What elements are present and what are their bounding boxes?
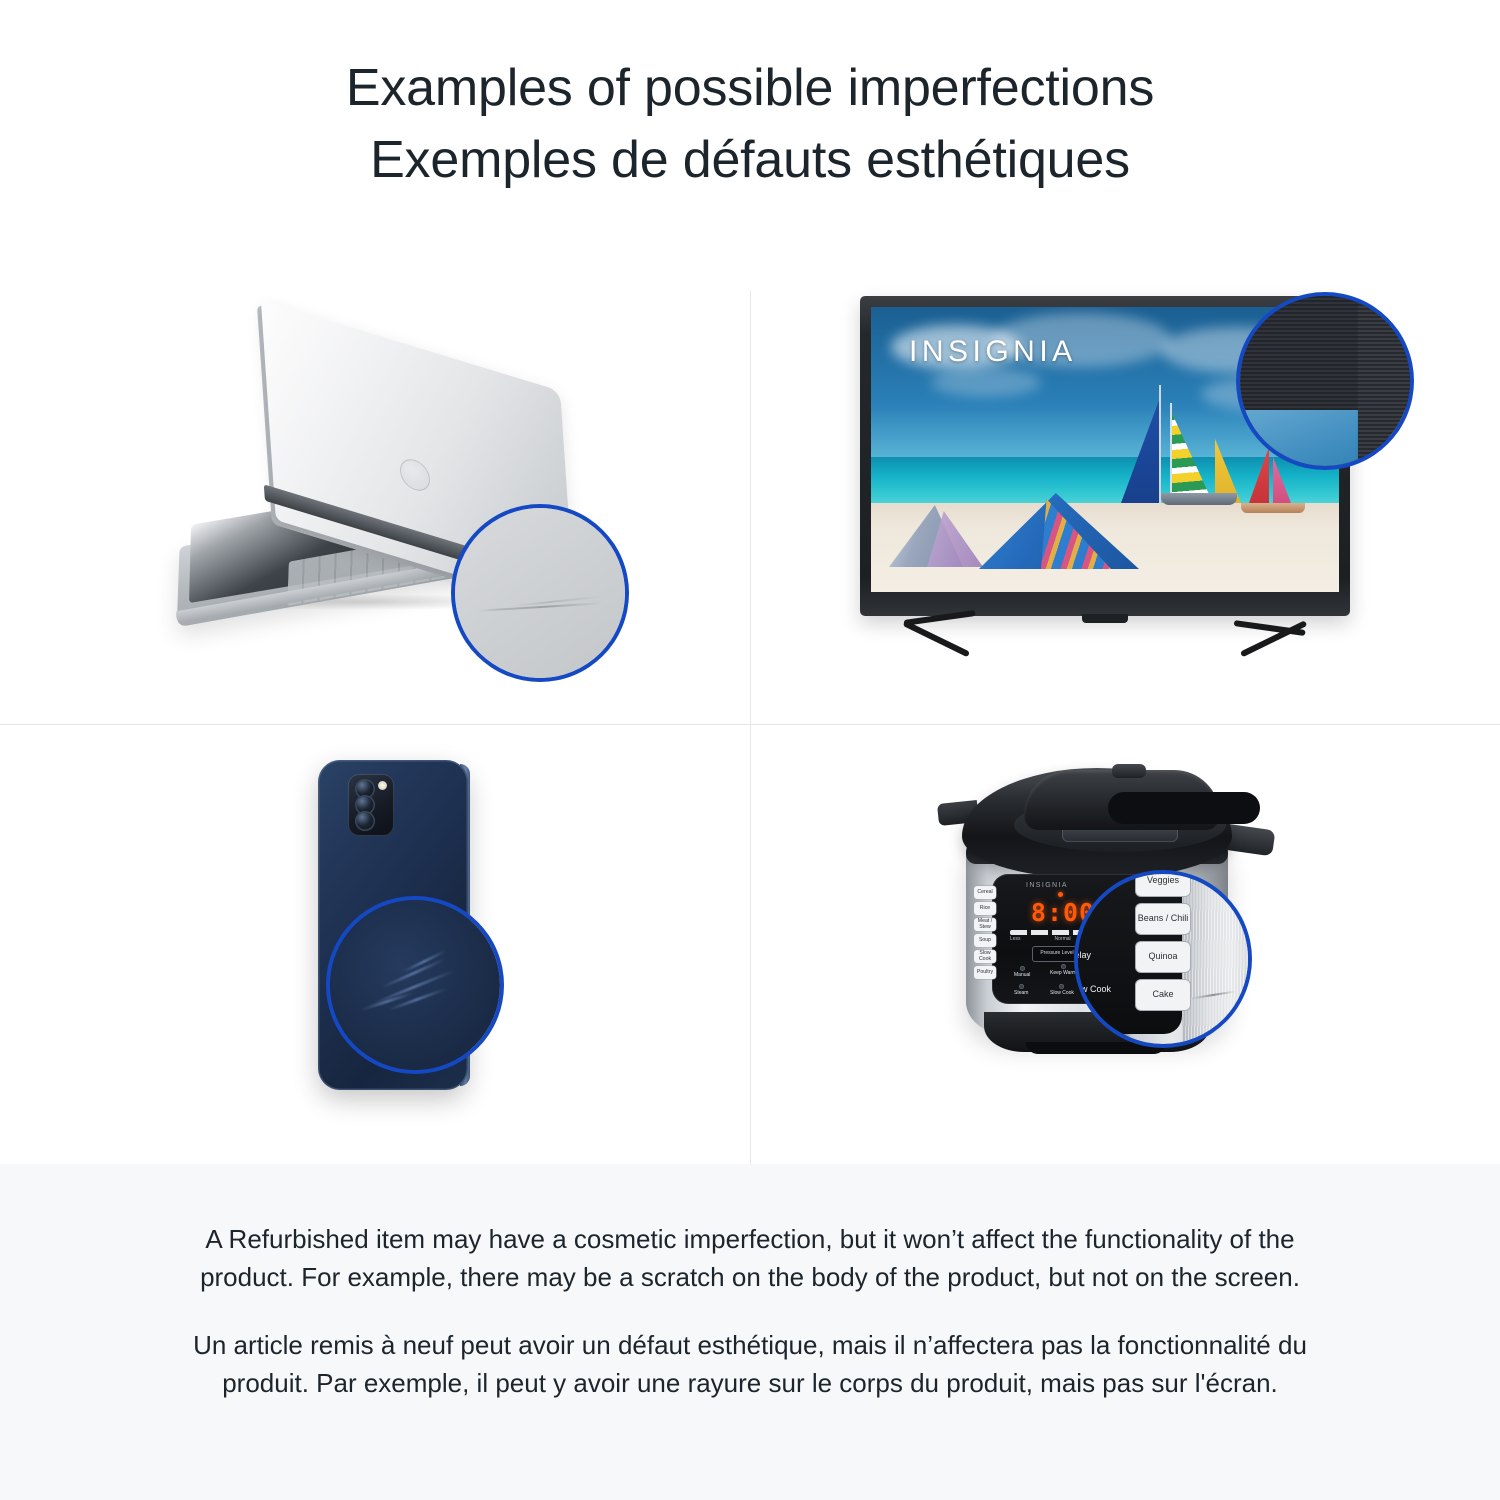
cooker-button[interactable]: Soup xyxy=(974,934,996,947)
page-header: Examples of possible imperfections Exemp… xyxy=(0,0,1500,248)
camera-module-icon xyxy=(348,774,394,836)
smartphone-imperfection-magnifier xyxy=(330,900,500,1070)
page-title-french: Exemples de défauts esthétiques xyxy=(370,127,1130,193)
cooker-button[interactable]: Slow Cook xyxy=(974,950,996,963)
cooker-button-led xyxy=(1059,984,1064,989)
magnified-cooker-label: Delay xyxy=(1078,950,1091,960)
cooker-button-led xyxy=(1020,966,1025,971)
laptop-graphic xyxy=(160,348,590,638)
cooker-lid xyxy=(962,768,1232,878)
smartphone-scratch-mark xyxy=(380,958,445,989)
screen-boat-hull xyxy=(1241,503,1305,513)
cooker-round-button-label: Manual xyxy=(1014,972,1030,978)
cooker-handle-opening xyxy=(1108,792,1260,824)
screen-boat-hull xyxy=(1161,493,1237,505)
magnified-cooker-label: Slow Cook xyxy=(1078,984,1111,994)
television-brand-logo: INSIGNIA xyxy=(909,335,1077,369)
magnified-cooker-button[interactable]: Quinoa xyxy=(1136,942,1190,972)
television-neck xyxy=(1082,614,1128,623)
television-graphic: INSIGNIA xyxy=(860,296,1360,676)
television-leg-left xyxy=(903,620,970,657)
screen-cloud xyxy=(931,367,1041,397)
example-cell-television: INSIGNIA xyxy=(750,248,1500,724)
cooker-steam-valve-icon xyxy=(1112,764,1146,778)
cooker-pressure-level-button[interactable]: Pressure Level xyxy=(1032,946,1082,962)
cooker-round-button[interactable]: Slow Cook xyxy=(1050,984,1074,996)
camera-flash-icon xyxy=(378,781,387,790)
scale-label-low: Less xyxy=(1010,936,1021,942)
scale-label-mid: Normal xyxy=(1055,936,1071,942)
cooker-lid-handle xyxy=(1024,770,1220,830)
cooker-button[interactable]: Meat / Stew xyxy=(974,918,996,931)
camera-lens-icon xyxy=(355,811,375,831)
magnified-steel-surface xyxy=(1182,874,1248,1044)
cooker-round-button[interactable]: Manual xyxy=(1014,966,1030,978)
cooker-round-button-label: Keep Warm xyxy=(1050,970,1076,976)
cooker-button-led xyxy=(1061,964,1066,969)
example-cell-laptop xyxy=(0,248,750,724)
disclaimer-paragraph-french: Un article remis à neuf peut avoir un dé… xyxy=(185,1326,1315,1402)
pressure-cooker-illustration: INSIGNIA 8:00 Less Normal More Pressure … xyxy=(750,724,1500,1164)
pressure-cooker-imperfection-magnifier: Veggies Beans / Chili Quinoa Cake Delay … xyxy=(1078,874,1248,1044)
cooker-round-button[interactable]: Keep Warm xyxy=(1050,964,1076,976)
cooker-button[interactable]: Rice xyxy=(974,902,996,915)
pressure-cooker-graphic: INSIGNIA 8:00 Less Normal More Pressure … xyxy=(940,742,1300,1122)
cooker-button[interactable]: Poultry xyxy=(974,966,996,979)
magnified-cooker-button[interactable]: Beans / Chili xyxy=(1136,904,1190,934)
screen-mast xyxy=(1170,403,1172,503)
cooker-foot xyxy=(1026,1042,1166,1054)
television-imperfection-magnifier xyxy=(1240,296,1410,466)
cooker-brand-label: INSIGNIA xyxy=(1026,882,1068,889)
cooker-left-button-column: Cereal Rice Meat / Stew Soup Slow Cook P… xyxy=(974,886,996,979)
example-cell-pressure-cooker: INSIGNIA 8:00 Less Normal More Pressure … xyxy=(750,724,1500,1164)
smartphone-illustration xyxy=(0,724,750,1164)
laptop-illustration xyxy=(0,248,750,724)
example-cell-smartphone xyxy=(0,724,750,1164)
cooker-indicator-led xyxy=(1058,892,1063,897)
page-title-english: Examples of possible imperfections xyxy=(346,55,1154,121)
disclaimer-footer: A Refurbished item may have a cosmetic i… xyxy=(0,1164,1500,1500)
disclaimer-paragraph-english: A Refurbished item may have a cosmetic i… xyxy=(185,1220,1315,1296)
magnified-cooker-button[interactable]: Cake xyxy=(1136,980,1190,1010)
cooker-round-button[interactable]: Steam xyxy=(1014,984,1028,996)
smartphone-graphic xyxy=(300,760,500,1120)
television-illustration: INSIGNIA xyxy=(750,248,1500,724)
cooker-round-button-label: Slow Cook xyxy=(1050,990,1074,996)
product-examples-grid: INSIGNIA xyxy=(0,248,1500,1164)
magnified-cooker-button[interactable]: Veggies xyxy=(1136,874,1190,896)
laptop-imperfection-magnifier xyxy=(455,508,625,678)
screen-mast xyxy=(1159,385,1161,503)
cooker-button[interactable]: Cereal xyxy=(974,886,996,899)
refurbished-imperfections-infographic: Examples of possible imperfections Exemp… xyxy=(0,0,1500,1500)
cooker-button-led xyxy=(1019,984,1024,989)
magnified-bezel-right xyxy=(1358,296,1410,466)
cooker-round-button-label: Steam xyxy=(1014,990,1028,996)
